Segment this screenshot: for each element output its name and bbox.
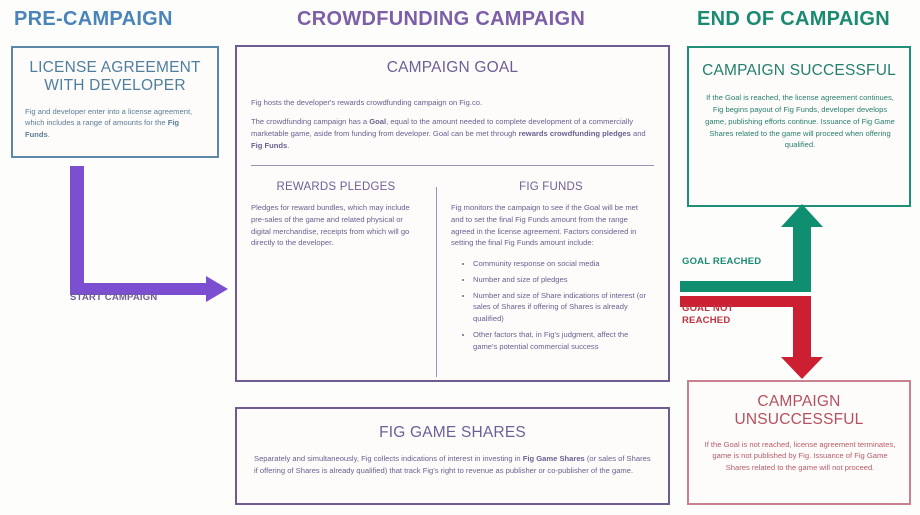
flow-arrows [0, 0, 920, 515]
goal-reached-arrow-icon [680, 204, 823, 292]
goal-not-reached-label: GOAL NOT REACHED [682, 303, 734, 327]
start-campaign-arrow-icon [70, 166, 228, 302]
diagram-canvas: PRE-CAMPAIGN CROWDFUNDING CAMPAIGN END O… [0, 0, 920, 515]
goal-reached-label: GOAL REACHED [682, 256, 761, 268]
start-campaign-label: START CAMPAIGN [70, 292, 157, 304]
